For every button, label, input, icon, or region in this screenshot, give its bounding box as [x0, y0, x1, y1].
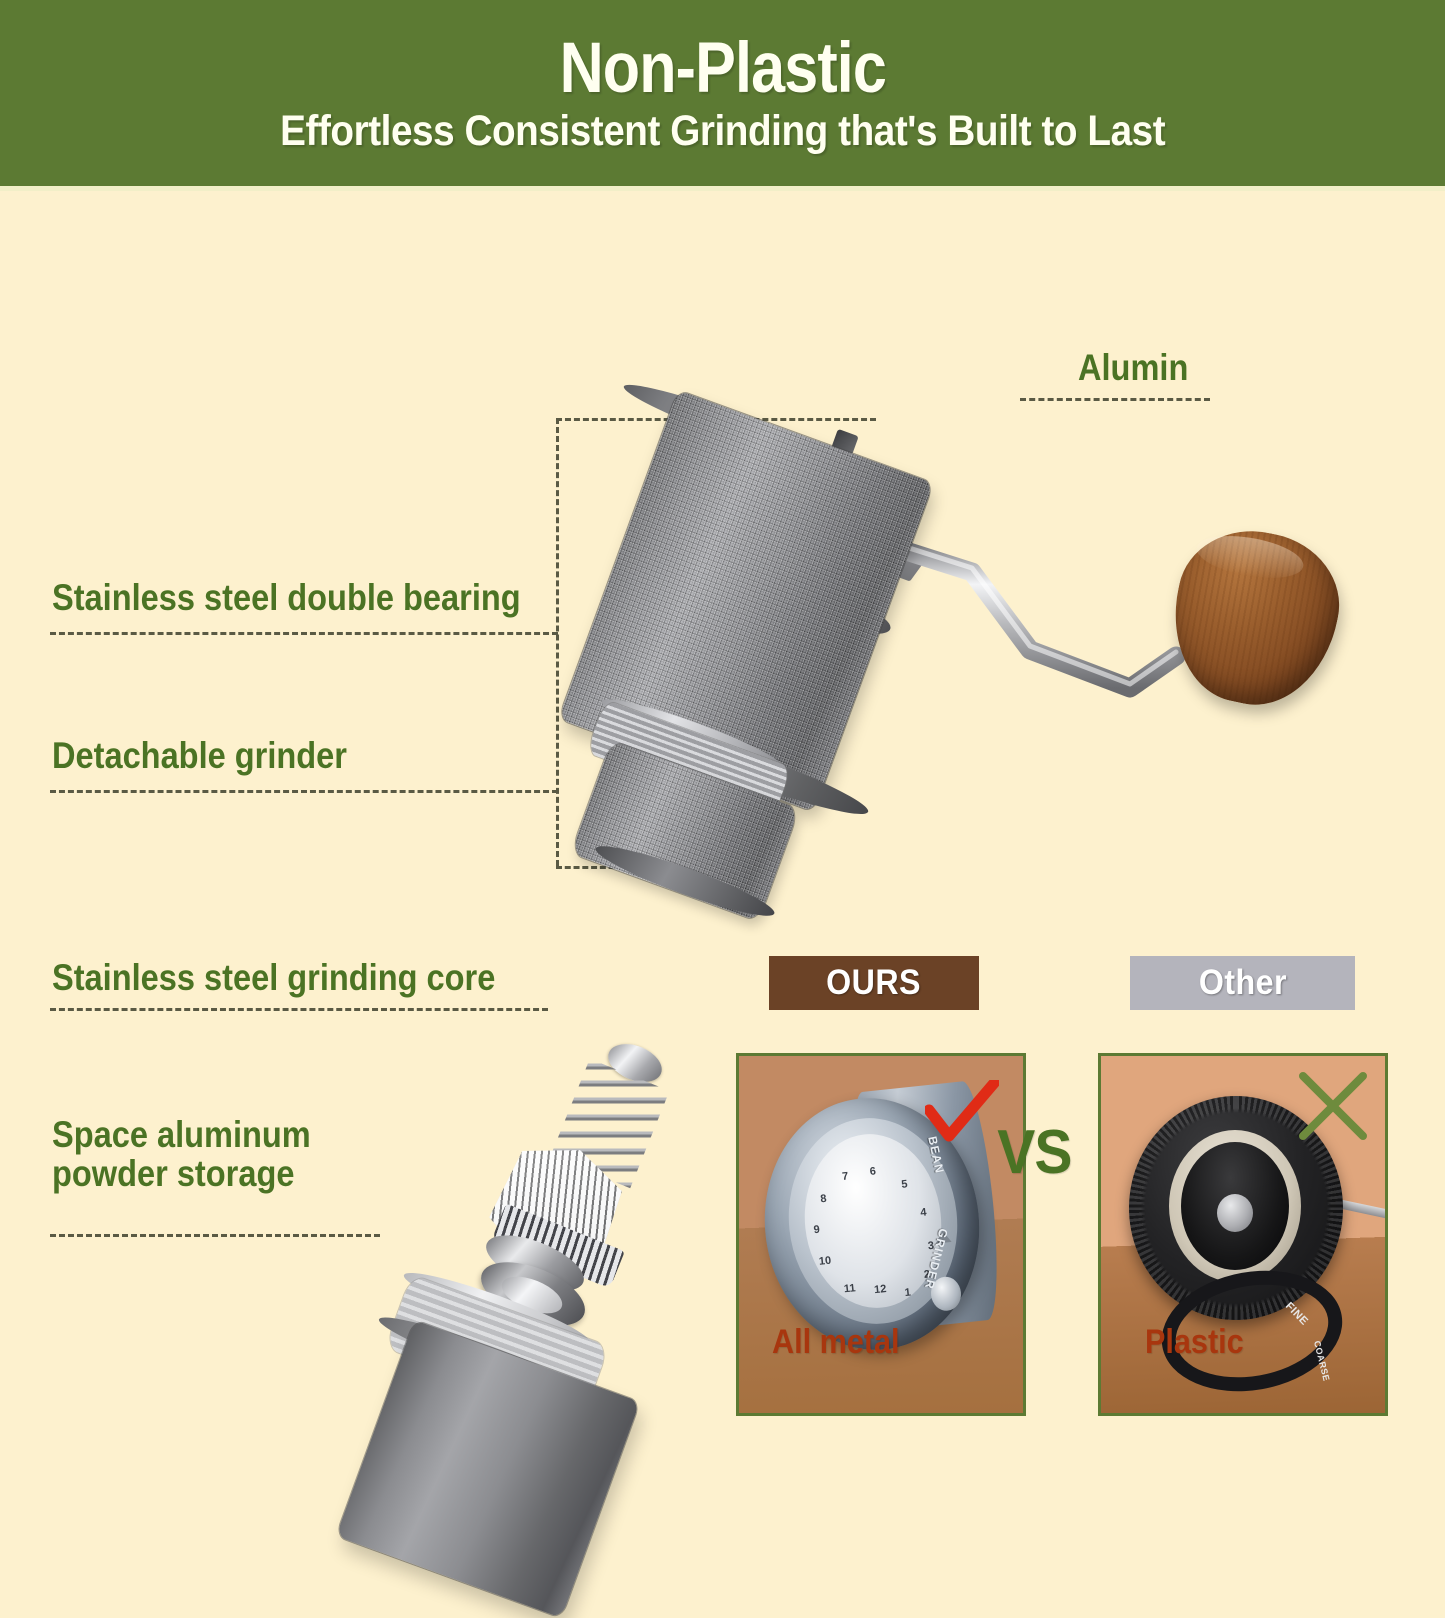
dial-number-10: 10 — [818, 1255, 831, 1268]
dial-number-12: 12 — [874, 1283, 887, 1296]
badge-ours: OURS — [769, 956, 979, 1010]
crank-arm-part — [880, 538, 1220, 738]
caption-all-metal: All metal — [772, 1323, 900, 1362]
badge-other-label: Other — [1198, 963, 1286, 1003]
badge-ours-label: OURS — [827, 963, 922, 1003]
dial-number-5: 5 — [901, 1178, 908, 1191]
page-subtitle: Effortless Consistent Grinding that's Bu… — [280, 110, 1165, 153]
plastic-rod-shape — [1339, 1199, 1388, 1221]
page-title: Non-Plastic — [559, 33, 885, 104]
dial-number-9: 9 — [813, 1224, 820, 1237]
dial-number-6: 6 — [869, 1165, 876, 1178]
dial-number-1: 1 — [904, 1286, 911, 1299]
dial-number-7: 7 — [842, 1170, 849, 1183]
badge-other: Other — [1130, 956, 1355, 1010]
cross-icon — [1297, 1070, 1369, 1142]
dial-number-11: 11 — [843, 1282, 856, 1295]
dial-number-8: 8 — [820, 1193, 827, 1206]
caption-plastic: Plastic — [1145, 1323, 1244, 1362]
dial-number-4: 4 — [920, 1206, 927, 1219]
plastic-center-bolt — [1217, 1194, 1253, 1232]
header-banner: Non-Plastic Effortless Consistent Grindi… — [0, 0, 1445, 186]
vs-separator: VS — [997, 1117, 1071, 1188]
comparison-section: OURS Other 12 1 2 3 4 5 6 7 8 9 10 11 BE… — [730, 945, 1390, 1365]
check-icon — [925, 1080, 999, 1148]
